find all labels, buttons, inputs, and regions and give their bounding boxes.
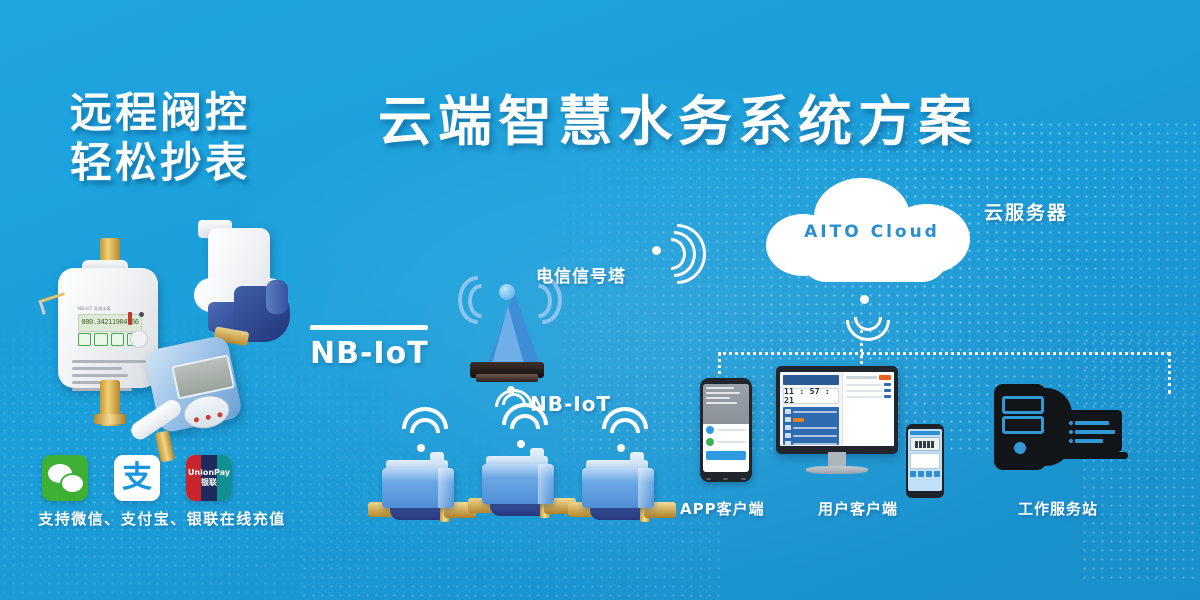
- workstation-label: 工作服务站: [1018, 498, 1098, 519]
- signal-arc-2: [846, 299, 890, 341]
- nav-home-icon: [723, 478, 728, 480]
- nav-recents-icon: [741, 478, 746, 480]
- toolbar-text: [846, 376, 877, 379]
- phone-nav-bar: [700, 478, 752, 480]
- row-text: [793, 435, 837, 437]
- form-value: [884, 383, 891, 386]
- form-value: [884, 395, 891, 398]
- phone-list-item: [703, 424, 749, 436]
- phone-screen: [703, 384, 749, 472]
- monitor-screen: 11 : 57 : 21: [780, 372, 894, 446]
- nbiot-label-left: NB-IoT: [310, 325, 429, 371]
- monitor-title-bar: [783, 375, 839, 385]
- screen-text-line: [1075, 430, 1115, 434]
- tower-mast-inner: [492, 306, 524, 364]
- dial-mark: [217, 412, 223, 418]
- signal-icon-to-cloud: [648, 222, 708, 280]
- meter-nut-bottom: [94, 414, 126, 424]
- monitor-toolbar: [846, 375, 891, 380]
- cloud-server-label: 云服务器: [984, 198, 1068, 225]
- nbiot-label-text: NB-IoT: [310, 336, 429, 371]
- page-title: 云端智慧水务系统方案: [378, 90, 978, 154]
- field-water-meter-2: [468, 452, 578, 526]
- phone-frame: [906, 424, 944, 498]
- unionpay-wordmark-cn: 银联: [201, 478, 217, 488]
- app-button-row: [910, 471, 940, 477]
- field-water-meter-1: [368, 456, 478, 530]
- form-label: [846, 390, 882, 392]
- lcd-digit: [927, 441, 930, 448]
- screen-bullet: [1069, 421, 1073, 425]
- unionpay-wordmark: UnionPay 银联: [186, 455, 232, 501]
- wifi-dot: [617, 444, 625, 452]
- app-button: [926, 471, 932, 477]
- dial-mark: [205, 414, 211, 420]
- meter-lcd: 880.34211904766: [78, 314, 142, 332]
- wechat-pay-icon: [42, 455, 88, 501]
- banner-canvas: 远程阀控 轻松抄表 云端智慧水务系统方案 NB-IoT 无线水表 880.342…: [0, 0, 1200, 600]
- phone-top-panel: [703, 384, 749, 424]
- wifi-dot: [517, 440, 525, 448]
- headline-left-line1: 远程阀控: [70, 88, 370, 138]
- monitor-clock: 11 : 57 : 21: [783, 388, 839, 404]
- monitor-form-row: [846, 389, 891, 392]
- phone-text-line: [706, 402, 737, 404]
- signal-dot: [652, 246, 661, 255]
- unionpay-wordmark-en: UnionPay: [188, 468, 230, 478]
- row-text: [793, 411, 837, 413]
- meter-text-line: [72, 367, 122, 370]
- list-item-icon: [706, 438, 714, 446]
- connector-drop-workstation: [1168, 352, 1171, 394]
- monitor-left-pane: 11 : 57 : 21: [780, 372, 842, 446]
- alipay-icon: 支: [114, 455, 160, 501]
- row-icon: [785, 409, 791, 414]
- app-header: [910, 431, 940, 435]
- monitor-list-row: [785, 409, 837, 414]
- lcd-digit: [931, 441, 934, 448]
- power-button-icon: [1014, 442, 1026, 454]
- cloud-icon: AITO Cloud: [766, 178, 978, 288]
- monitor-right-pane: [842, 372, 894, 446]
- meter-lcd-caption: NB-IoT 无线水表: [78, 306, 111, 312]
- headline-left-line2: 轻松抄表: [70, 138, 370, 188]
- row-icon: [785, 441, 791, 446]
- meter-indicator-dot: [139, 312, 144, 317]
- wifi-dot: [417, 444, 425, 452]
- product-photo-blue-meter: [128, 318, 282, 472]
- screen-text-line: [1075, 421, 1109, 425]
- payment-logo-row: 支 UnionPay 银联: [42, 455, 292, 501]
- row-text: [793, 443, 837, 445]
- wifi-icon-meter-1: [398, 418, 444, 452]
- laptop-base: [1056, 452, 1128, 459]
- list-item-icon: [706, 426, 714, 434]
- list-item-text: [717, 429, 746, 431]
- app-client-label: APP客户端: [680, 498, 765, 519]
- meter-module: [582, 468, 654, 508]
- headline-left: 远程阀控 轻松抄表: [70, 88, 370, 188]
- monitor-list-row: [785, 441, 837, 446]
- screen-text-line: [1075, 439, 1103, 443]
- row-icon: [785, 417, 791, 422]
- list-item-text: [717, 441, 746, 443]
- tower-antenna-ball: [499, 284, 515, 300]
- meter-reading-display: [910, 437, 940, 451]
- meter-text-line: [72, 374, 128, 377]
- signal-icon-cloud-downlink: [836, 295, 892, 337]
- nav-back-icon: [706, 478, 711, 480]
- form-label: [846, 384, 882, 386]
- laptop-screen: [1062, 410, 1122, 452]
- payment-caption: 支持微信、支付宝、银联在线充值: [22, 508, 302, 529]
- signal-dot: [860, 295, 869, 304]
- toolbar-action-button: [879, 375, 891, 380]
- unionpay-icon: UnionPay 银联: [186, 455, 232, 501]
- user-client-label: 用户客户端: [818, 498, 898, 519]
- app-button: [918, 471, 924, 477]
- monitor-list-panel: [783, 407, 839, 445]
- lcd-digit: [919, 441, 922, 448]
- server-bay-1: [1002, 396, 1044, 414]
- workstation-icon: [988, 382, 1128, 488]
- phone-text-line: [706, 397, 730, 399]
- app-button: [934, 471, 940, 477]
- lcd-digit: [915, 441, 918, 448]
- screen-bullet: [1069, 430, 1073, 434]
- tower-base-shadow: [476, 374, 538, 382]
- valve-cylinder: [266, 280, 288, 314]
- server-tower-icon: [994, 384, 1046, 470]
- monitor-form-row: [846, 395, 891, 398]
- connector-drop-user: [860, 330, 863, 370]
- cloud-name-text: AITO Cloud: [766, 222, 978, 242]
- phone-screen: [908, 429, 942, 491]
- form-value: [884, 389, 891, 392]
- user-client-monitor: 11 : 57 : 21: [776, 366, 898, 484]
- blue-meter-dial: [181, 392, 233, 433]
- monitor-list-row: [785, 433, 837, 438]
- field-water-meter-3: [568, 456, 678, 530]
- connector-bus-horizontal: [718, 352, 1170, 355]
- meter-app-phone: [906, 424, 944, 498]
- row-icon: [785, 425, 791, 430]
- screen-bullet: [1069, 439, 1073, 443]
- meter-indicator-red: [128, 312, 132, 325]
- app-client-phone: [700, 378, 752, 482]
- server-bay-2: [1002, 416, 1044, 434]
- laptop-icon: [1062, 410, 1128, 458]
- meter-dial-graphic: [910, 453, 940, 469]
- monitor-clock-text: 11 : 57 : 21: [784, 387, 838, 405]
- meter-icon-1: [78, 333, 91, 346]
- phone-text-line: [706, 387, 734, 389]
- phone-list-item: [703, 436, 749, 448]
- meter-antenna-stub: [530, 448, 544, 464]
- form-label: [846, 396, 882, 398]
- phone-frame: [700, 378, 752, 482]
- monitor-form-row: [846, 383, 891, 386]
- phone-primary-button: [706, 451, 746, 460]
- app-button: [910, 471, 916, 477]
- meter-module: [482, 464, 554, 504]
- meter-icon-3: [111, 333, 124, 346]
- wechat-bubble-small: [60, 473, 85, 494]
- blue-meter-screen: [171, 354, 235, 399]
- tower-label: 电信信号塔: [536, 262, 626, 287]
- alipay-glyph: 支: [114, 455, 160, 501]
- meter-module: [382, 468, 454, 508]
- lcd-digit: [923, 441, 926, 448]
- meter-antenna-stub: [630, 452, 644, 468]
- row-icon: [785, 433, 791, 438]
- wifi-icon-meter-3: [598, 418, 644, 452]
- wifi-icon-meter-2: [498, 414, 544, 448]
- dial-mark: [194, 417, 200, 423]
- phone-text-line: [706, 392, 740, 394]
- row-status-badge: [793, 418, 804, 422]
- meter-antenna-stub: [430, 452, 444, 468]
- monitor-list-row: [785, 417, 837, 422]
- nbiot-rule: [310, 325, 428, 330]
- row-text: [793, 427, 837, 429]
- monitor-list-row: [785, 425, 837, 430]
- meter-icon-2: [94, 333, 107, 346]
- monitor-stand: [806, 466, 868, 474]
